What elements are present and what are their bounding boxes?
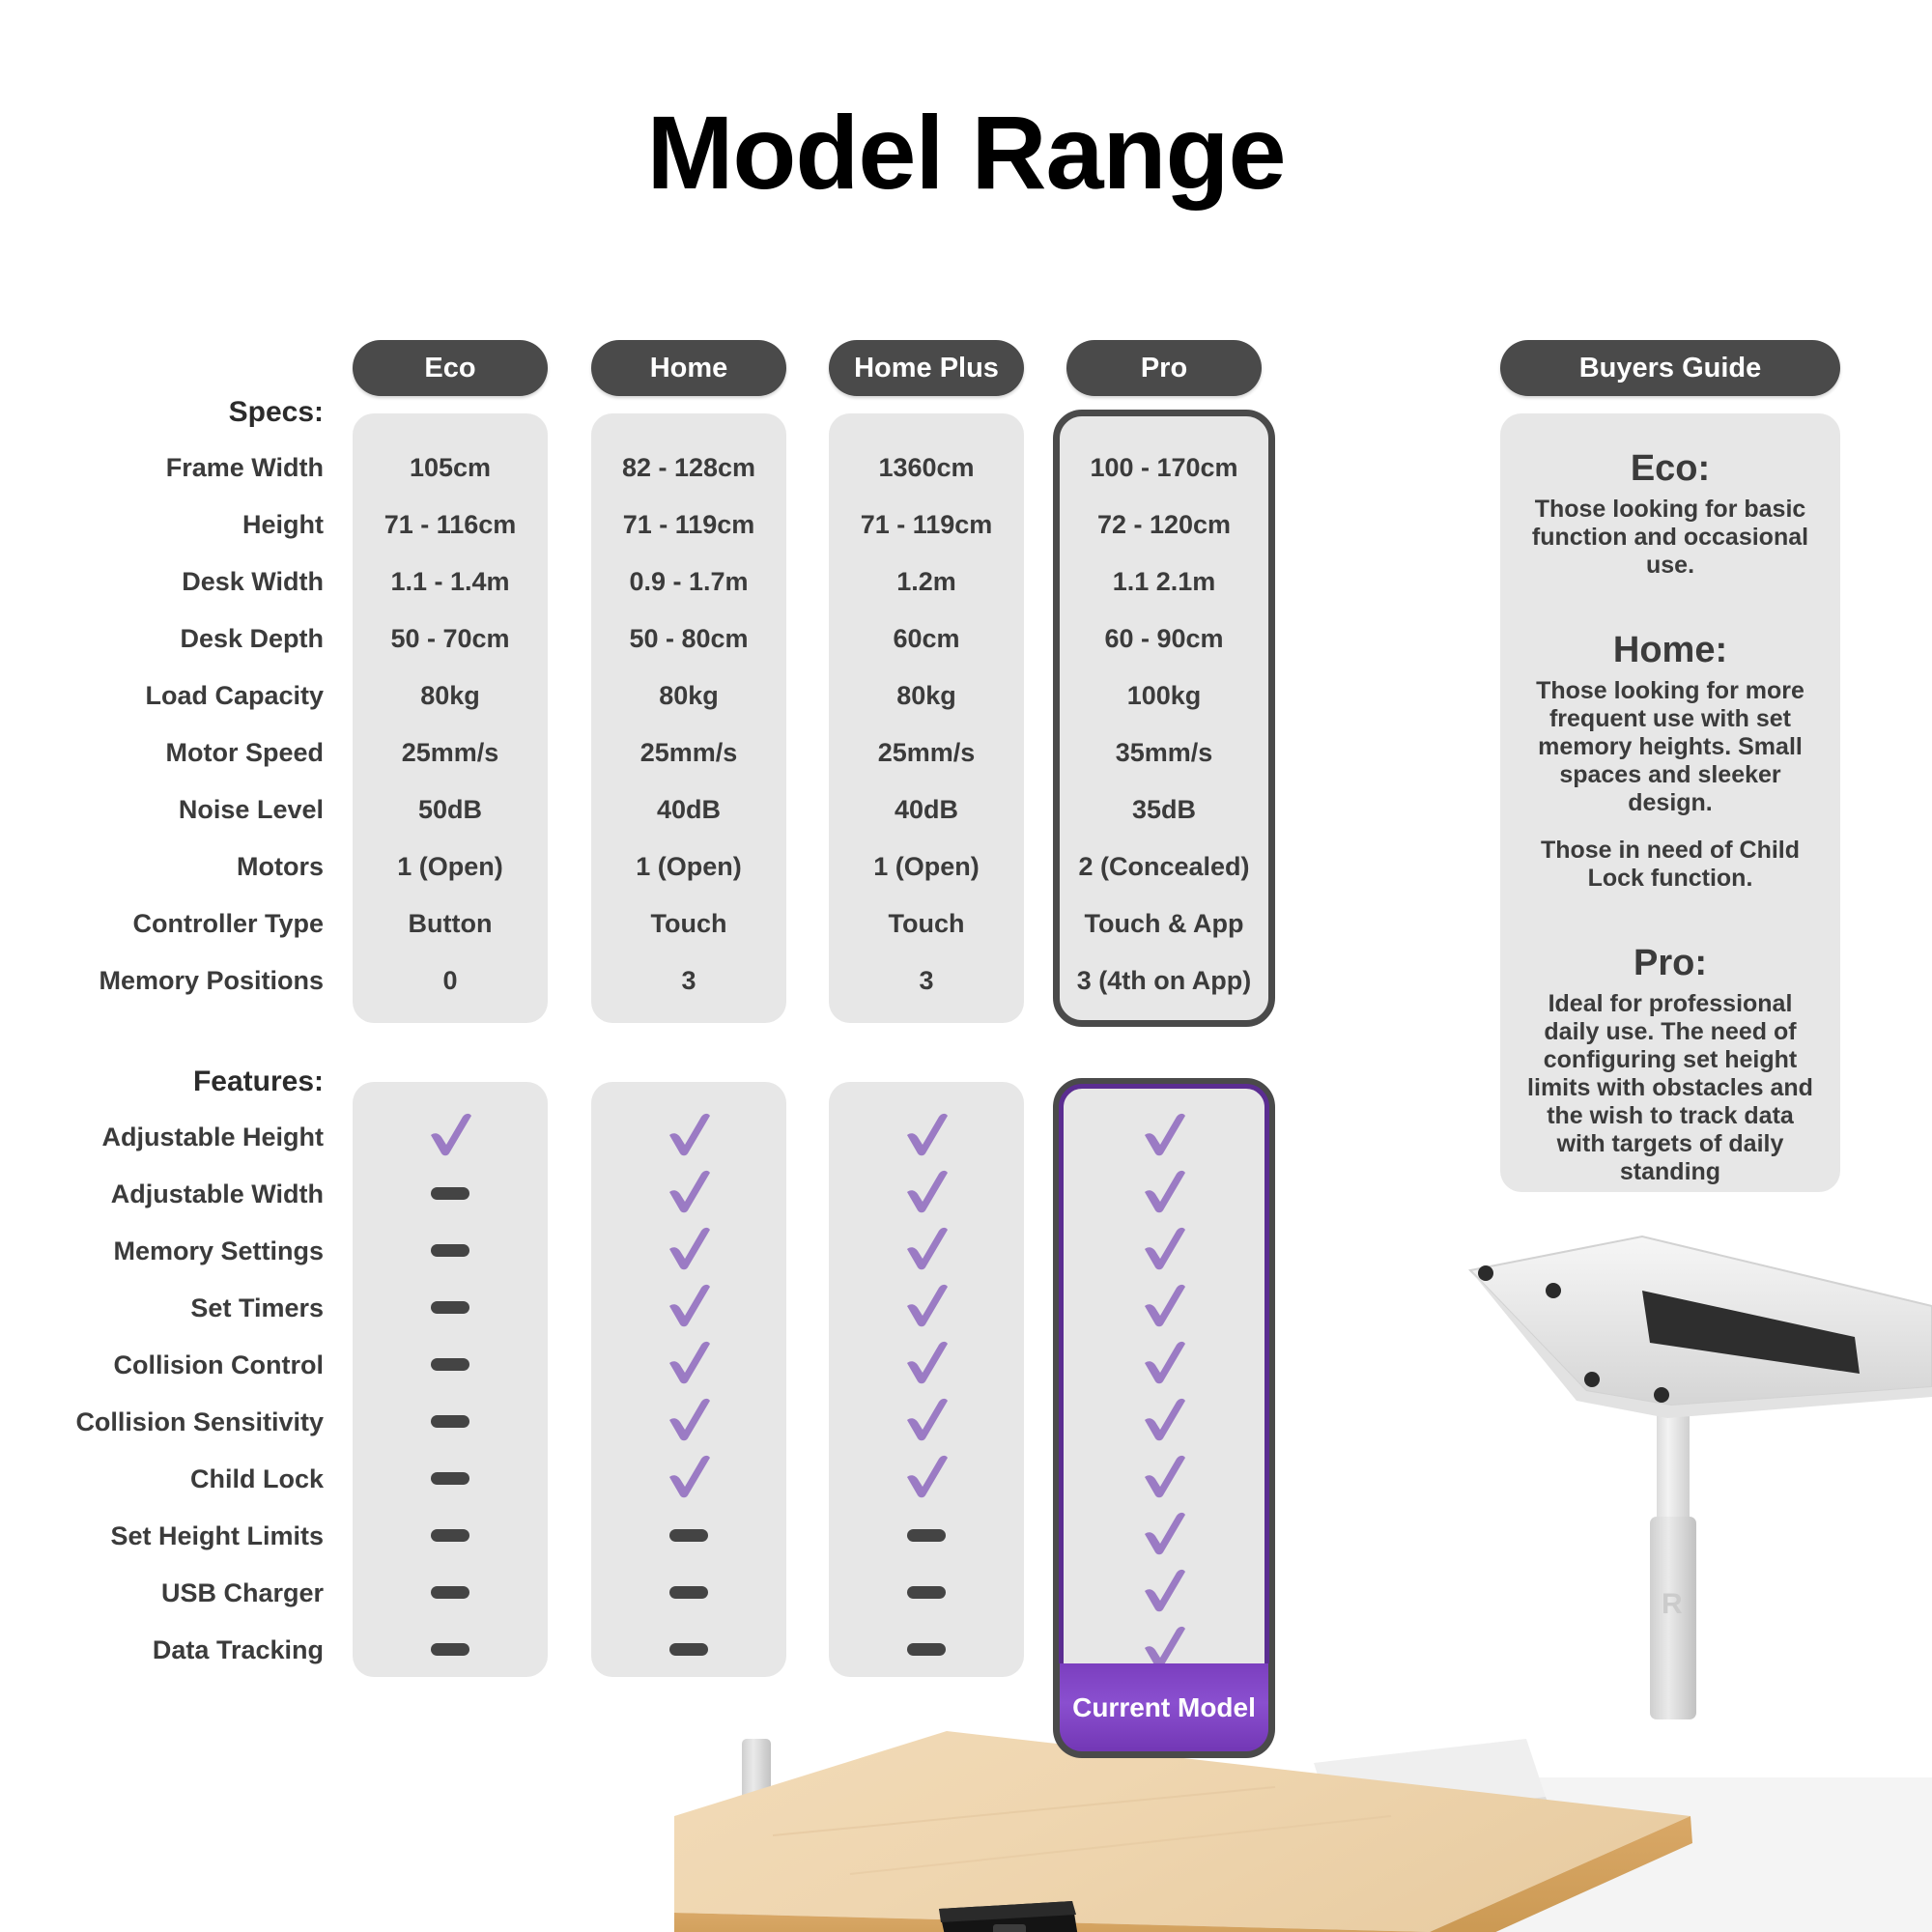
spec-value: Button (353, 909, 548, 939)
check-icon-pro-collision-sensitivity (1138, 1394, 1190, 1446)
spec-value: 71 - 119cm (829, 510, 1024, 540)
spec-value: 82 - 128cm (591, 453, 786, 483)
spec-value: 60cm (829, 624, 1024, 654)
guide-text-home-1: Those looking for more frequent use with… (1525, 677, 1815, 817)
dash-icon-eco-collision-control (431, 1358, 469, 1371)
spec-value: 1.1 - 1.4m (353, 567, 548, 597)
spec-value: 50dB (353, 795, 548, 825)
guide-heading-eco: Eco: (1525, 448, 1815, 490)
spec-value: 1.2m (829, 567, 1024, 597)
spec-value: Touch (829, 909, 1024, 939)
column-header-label: Pro (1141, 353, 1187, 384)
column-header-label: Buyers Guide (1579, 353, 1762, 384)
spec-row-label-motors: Motors (39, 852, 324, 882)
spec-row-label-motor-speed: Motor Speed (39, 738, 324, 768)
check-icon-pro-adjustable-height (1138, 1109, 1190, 1161)
feature-row-label-set-height-limits: Set Height Limits (10, 1521, 324, 1551)
dash-icon-eco-set-height-limits (431, 1529, 469, 1542)
guide-heading-home: Home: (1525, 630, 1815, 671)
specs-section-label: Specs: (58, 396, 324, 429)
spec-value: 50 - 70cm (353, 624, 548, 654)
dash-icon-eco-adjustable-width (431, 1187, 469, 1200)
spec-value: 71 - 119cm (591, 510, 786, 540)
check-icon-pro-usb-charger (1138, 1565, 1190, 1617)
dash-icon-home_plus-set-height-limits (907, 1529, 946, 1542)
check-icon-home-collision-sensitivity (663, 1394, 715, 1446)
feature-row-label-adjustable-width: Adjustable Width (10, 1179, 324, 1209)
check-icon-home-child-lock (663, 1451, 715, 1503)
dash-icon-eco-usb-charger (431, 1586, 469, 1599)
check-icon-home-adjustable-height (663, 1109, 715, 1161)
features-section-label: Features: (58, 1065, 324, 1098)
feature-row-label-adjustable-height: Adjustable Height (10, 1122, 324, 1152)
check-icon-pro-set-timers (1138, 1280, 1190, 1332)
column-header-label: Eco (424, 353, 475, 384)
spec-value: 80kg (829, 681, 1024, 711)
spec-value: 2 (Concealed) (1053, 852, 1275, 882)
spec-value: 1360cm (829, 453, 1024, 483)
feature-row-label-child-lock: Child Lock (10, 1464, 324, 1494)
dash-icon-eco-memory-settings (431, 1244, 469, 1257)
spec-row-label-load-capacity: Load Capacity (39, 681, 324, 711)
spec-row-label-noise-level: Noise Level (39, 795, 324, 825)
check-icon-pro-collision-control (1138, 1337, 1190, 1389)
dash-icon-home_plus-usb-charger (907, 1586, 946, 1599)
spec-value: 100 - 170cm (1053, 453, 1275, 483)
spec-value: 40dB (829, 795, 1024, 825)
feature-row-label-set-timers: Set Timers (10, 1293, 324, 1323)
spec-value: 25mm/s (591, 738, 786, 768)
dash-icon-home_plus-data-tracking (907, 1643, 946, 1656)
dash-icon-home-usb-charger (669, 1586, 708, 1599)
model-range-comparison-page: Model Range (0, 0, 1932, 1932)
spec-row-label-controller-type: Controller Type (39, 909, 324, 939)
column-header-label: Home Plus (854, 353, 999, 384)
feature-row-label-usb-charger: USB Charger (10, 1578, 324, 1608)
spec-value: 1 (Open) (829, 852, 1024, 882)
spec-row-label-frame-width: Frame Width (39, 453, 324, 483)
check-icon-pro-set-height-limits (1138, 1508, 1190, 1560)
spec-value: 80kg (353, 681, 548, 711)
spec-value: 105cm (353, 453, 548, 483)
spec-row-label-desk-width: Desk Width (39, 567, 324, 597)
spec-value: 40dB (591, 795, 786, 825)
spec-value: 80kg (591, 681, 786, 711)
spec-value: 0 (353, 966, 548, 996)
dash-icon-eco-collision-sensitivity (431, 1415, 469, 1428)
dash-icon-home-data-tracking (669, 1643, 708, 1656)
column-header-label: Home (650, 353, 728, 384)
column-header-home-plus[interactable]: Home Plus (829, 340, 1024, 396)
check-icon-home-adjustable-width (663, 1166, 715, 1218)
spec-value: 3 (829, 966, 1024, 996)
guide-text-eco: Those looking for basic function and occ… (1525, 496, 1815, 580)
current-model-badge: Current Model (1053, 1663, 1275, 1758)
dash-icon-eco-child-lock (431, 1472, 469, 1485)
dash-icon-home-set-height-limits (669, 1529, 708, 1542)
feature-row-label-collision-control: Collision Control (10, 1350, 324, 1380)
dash-icon-eco-set-timers (431, 1301, 469, 1314)
feature-row-label-data-tracking: Data Tracking (10, 1635, 324, 1665)
check-icon-home_plus-collision-control (900, 1337, 952, 1389)
guide-text-pro: Ideal for professional daily use. The ne… (1525, 990, 1815, 1186)
check-icon-home-collision-control (663, 1337, 715, 1389)
spec-value: 3 (591, 966, 786, 996)
spec-value: 3 (4th on App) (1053, 966, 1275, 996)
column-header-buyers-guide[interactable]: Buyers Guide (1500, 340, 1840, 396)
spec-value: 1 (Open) (353, 852, 548, 882)
check-icon-home_plus-collision-sensitivity (900, 1394, 952, 1446)
spec-value: 0.9 - 1.7m (591, 567, 786, 597)
spec-value: 25mm/s (829, 738, 1024, 768)
spec-value: 72 - 120cm (1053, 510, 1275, 540)
spec-value: 35dB (1053, 795, 1275, 825)
spec-value: 60 - 90cm (1053, 624, 1275, 654)
buyers-guide-card: Eco: Those looking for basic function an… (1500, 413, 1840, 1192)
column-header-home[interactable]: Home (591, 340, 786, 396)
spec-value: 1.1 2.1m (1053, 567, 1275, 597)
feature-row-label-memory-settings: Memory Settings (10, 1236, 324, 1266)
check-icon-home_plus-memory-settings (900, 1223, 952, 1275)
spec-row-label-desk-depth: Desk Depth (39, 624, 324, 654)
spec-value: 71 - 116cm (353, 510, 548, 540)
spec-value: Touch (591, 909, 786, 939)
current-model-badge-label: Current Model (1072, 1692, 1256, 1723)
check-icon-home_plus-set-timers (900, 1280, 952, 1332)
comparison-board: Eco Home Home Plus Pro Buyers Guide Spec… (0, 0, 1932, 1932)
dash-icon-eco-data-tracking (431, 1643, 469, 1656)
spec-value: 50 - 80cm (591, 624, 786, 654)
check-icon-pro-child-lock (1138, 1451, 1190, 1503)
spec-value: 35mm/s (1053, 738, 1275, 768)
spec-value: 25mm/s (353, 738, 548, 768)
spec-row-label-memory-positions: Memory Positions (39, 966, 324, 996)
check-icon-home_plus-adjustable-width (900, 1166, 952, 1218)
check-icon-home-set-timers (663, 1280, 715, 1332)
check-icon-home_plus-child-lock (900, 1451, 952, 1503)
spec-value: 100kg (1053, 681, 1275, 711)
feature-row-label-collision-sensitivity: Collision Sensitivity (10, 1407, 324, 1437)
check-icon-home-memory-settings (663, 1223, 715, 1275)
spec-value: Touch & App (1053, 909, 1275, 939)
check-icon-pro-adjustable-width (1138, 1166, 1190, 1218)
check-icon-home_plus-adjustable-height (900, 1109, 952, 1161)
check-icon-eco-adjustable-height (424, 1109, 476, 1161)
check-icon-pro-memory-settings (1138, 1223, 1190, 1275)
column-header-pro[interactable]: Pro (1066, 340, 1262, 396)
guide-text-home-2: Those in need of Child Lock function. (1525, 837, 1815, 893)
spec-value: 1 (Open) (591, 852, 786, 882)
guide-heading-pro: Pro: (1525, 943, 1815, 984)
spec-row-label-height: Height (39, 510, 324, 540)
column-header-eco[interactable]: Eco (353, 340, 548, 396)
